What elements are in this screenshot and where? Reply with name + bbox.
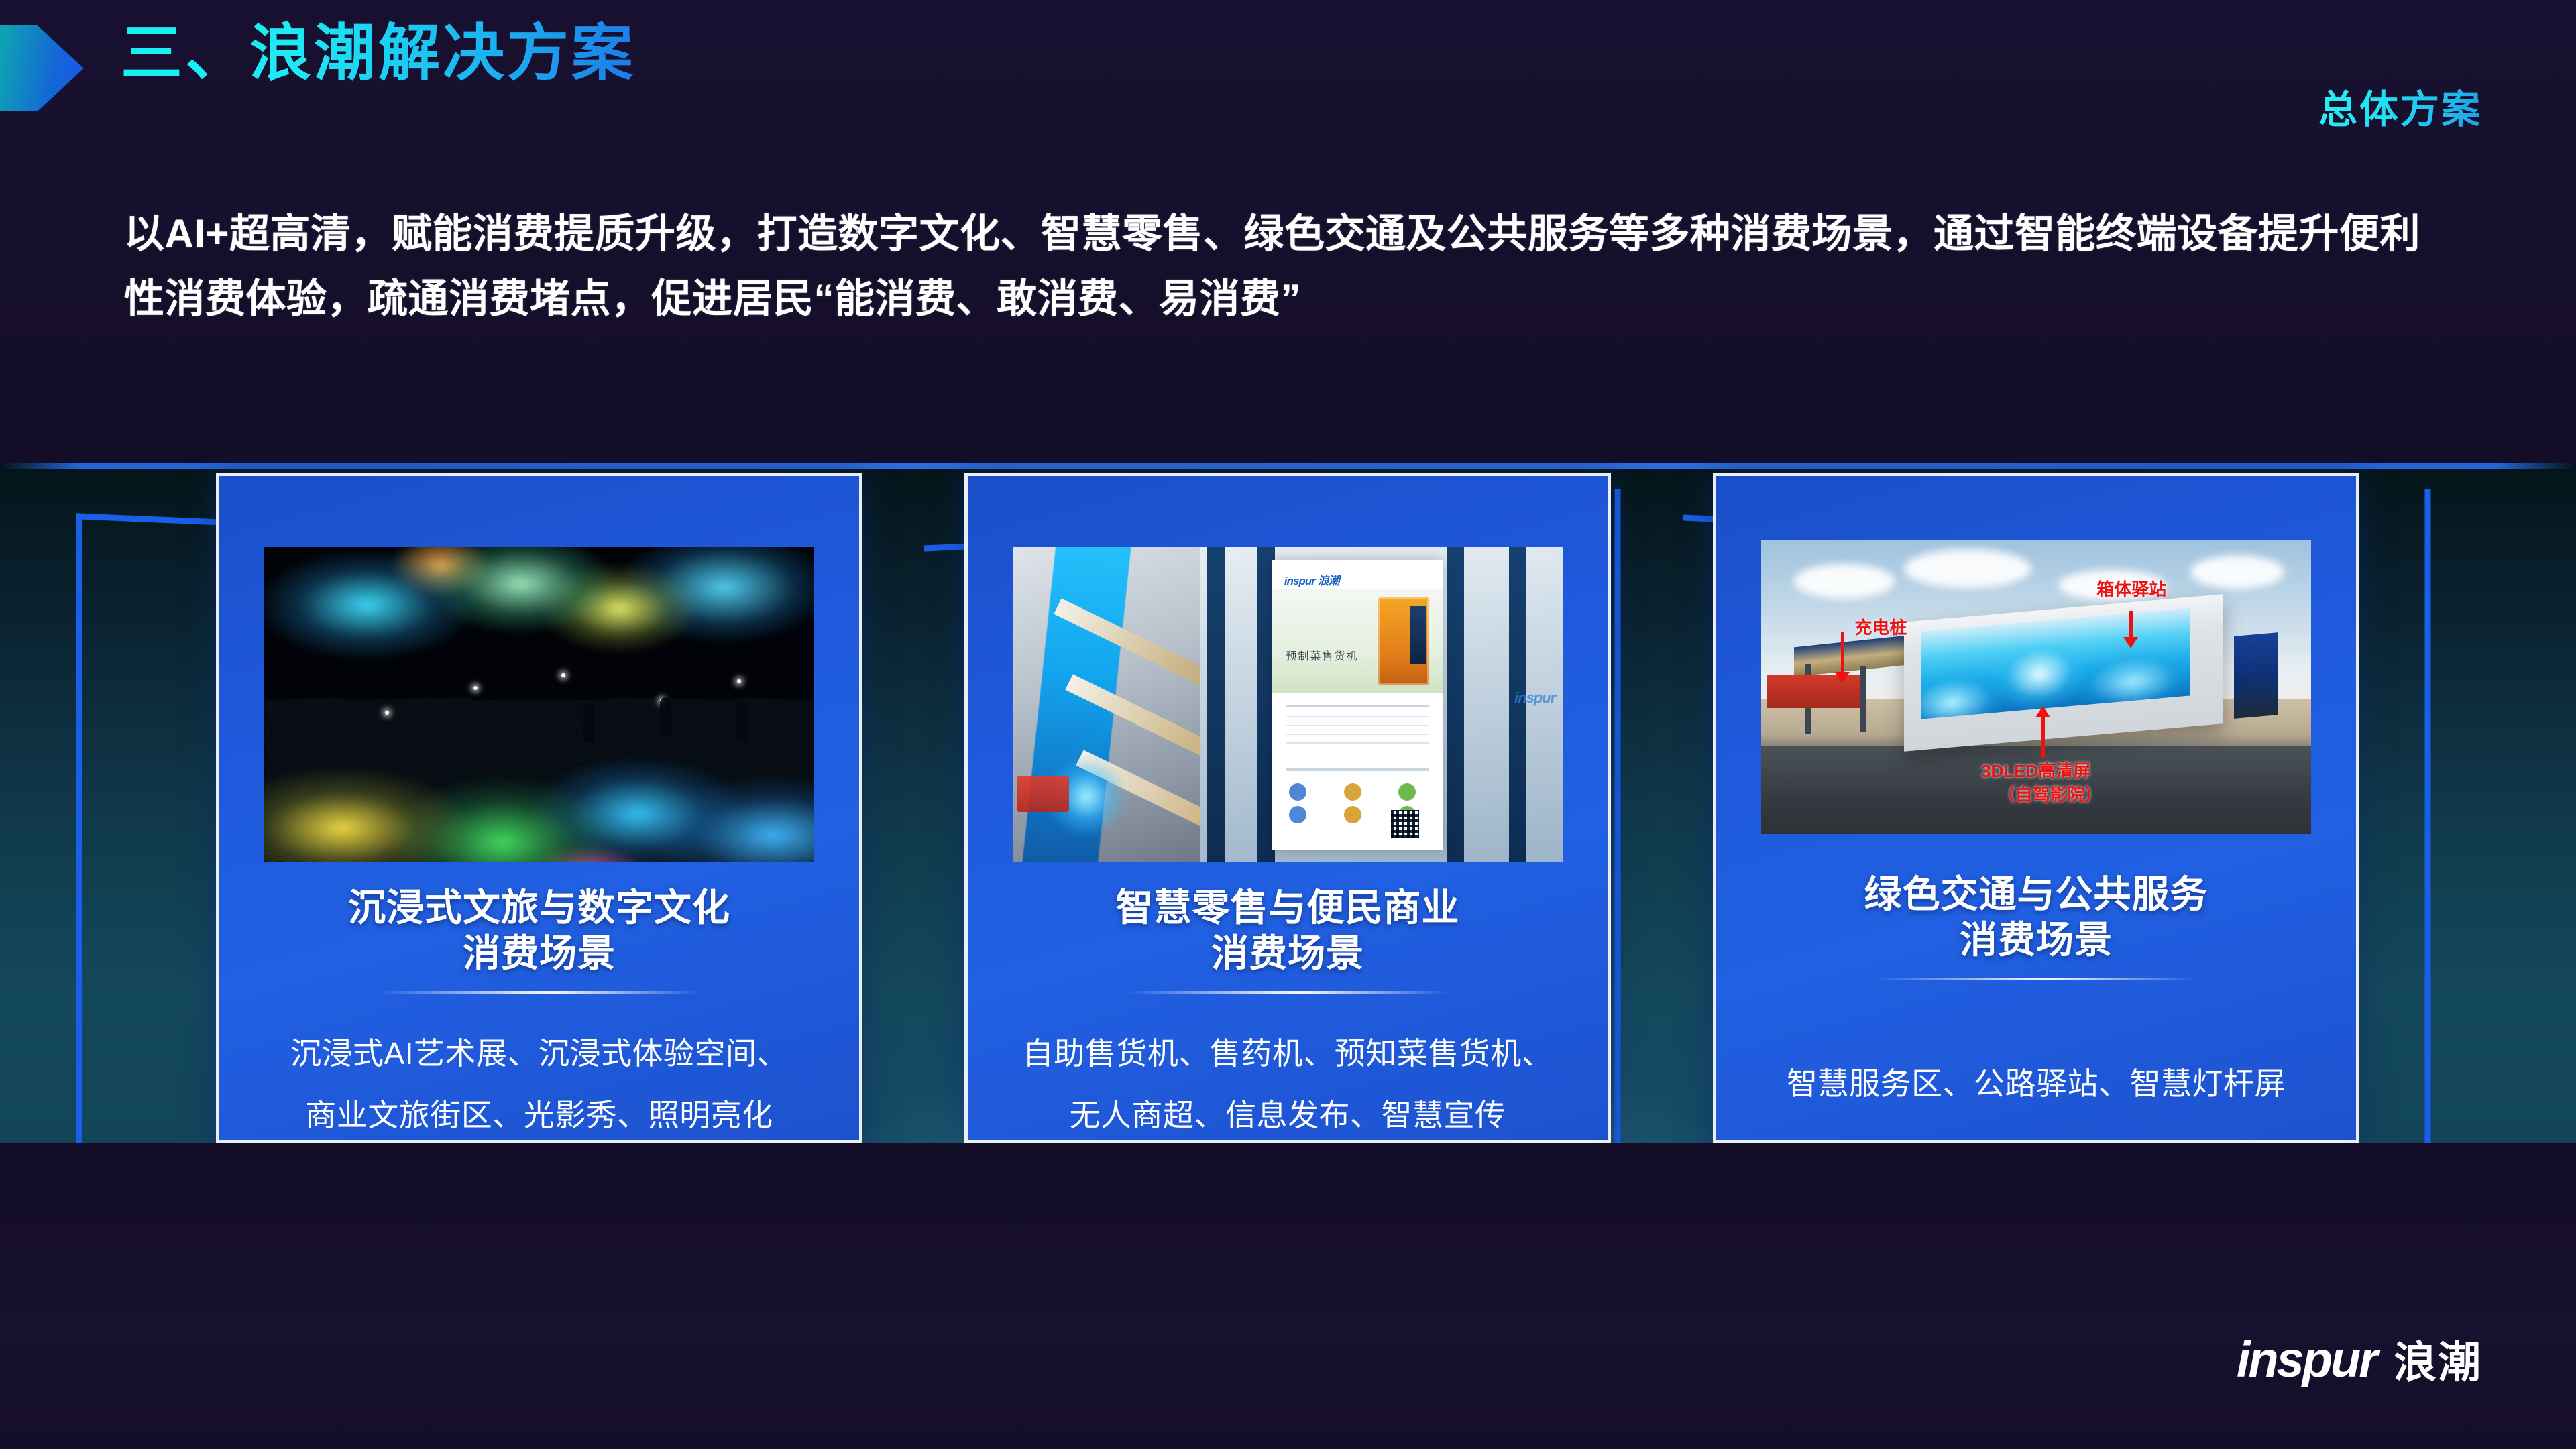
footer-area: inspur 浪潮 xyxy=(0,1143,2576,1449)
header-area: 三、浪潮解决方案 总体方案 以AI+超高清，赋能消费提质升级，打造数字文化、智慧… xyxy=(0,0,2576,463)
poster-title: 预制菜售货机 xyxy=(1286,647,1358,663)
card-title-line2: 消费场景 xyxy=(219,931,859,976)
annotation-charging-pile: 充电桩 xyxy=(1854,614,1907,639)
kiosk-poster: inspur 浪潮 预制菜售货机 xyxy=(1272,560,1443,850)
card-divider xyxy=(1875,978,2197,980)
card-photo-immersive-culture xyxy=(264,547,814,862)
card-body-smart-retail: 自助售货机、售药机、预知菜售货机、 无人商超、信息发布、智慧宣传 xyxy=(1003,1023,1573,1146)
annotation-arrow-charging-pile xyxy=(1841,632,1844,673)
card-body-green-transport: 智慧服务区、公路驿站、智慧灯杆屏 xyxy=(1751,1053,2321,1114)
card-title-line1: 智慧零售与便民商业 xyxy=(968,885,1608,931)
poster-brand: inspur 浪潮 xyxy=(1284,571,1339,588)
slide-root: 三、浪潮解决方案 总体方案 以AI+超高清，赋能消费提质升级，打造数字文化、智慧… xyxy=(0,0,2576,1449)
card-title-line1: 沉浸式文旅与数字文化 xyxy=(219,885,859,931)
lead-paragraph: 以AI+超高清，赋能消费提质升级，打造数字文化、智慧零售、绿色交通及公共服务等多… xyxy=(124,201,2451,331)
card-body-line1: 沉浸式AI艺术展、沉浸式体验空间、 xyxy=(254,1023,824,1084)
section-tag: 总体方案 xyxy=(2318,78,2482,134)
scenario-card-smart-retail[interactable]: inspur 浪潮 预制菜售货机 xyxy=(964,473,1611,1143)
annotation-arrow-box-station xyxy=(2129,611,2133,637)
card-title-line2: 消费场景 xyxy=(1716,917,2356,963)
card-body-line1: 智慧服务区、公路驿站、智慧灯杆屏 xyxy=(1751,1053,2321,1114)
brand-logo-word: inspur xyxy=(2237,1331,2376,1388)
card-title-line1: 绿色交通与公共服务 xyxy=(1716,872,2356,917)
poster-watermark: inspur xyxy=(1514,689,1555,707)
scenario-card-immersive-culture[interactable]: 沉浸式文旅与数字文化 消费场景 沉浸式AI艺术展、沉浸式体验空间、 商业文旅街区… xyxy=(216,473,862,1143)
brand-logo: inspur 浪潮 xyxy=(2237,1328,2482,1390)
annotation-box-station: 箱体驿站 xyxy=(2096,576,2166,601)
card-body-line2: 无人商超、信息发布、智慧宣传 xyxy=(1003,1084,1573,1146)
card-body-line2: 商业文旅街区、光影秀、照明亮化 xyxy=(254,1084,824,1146)
card-photo-smart-retail: inspur 浪潮 预制菜售货机 xyxy=(1013,547,1563,862)
card-title-line2: 消费场景 xyxy=(968,931,1608,976)
scenario-card-green-transport[interactable]: 充电桩 箱体驿站 3DLED高清屏 （自驾影院） 绿色交通与公共服务 消费场景 … xyxy=(1713,473,2359,1143)
card-photo-green-transport: 充电桩 箱体驿站 3DLED高清屏 （自驾影院） xyxy=(1761,540,2311,834)
card-body-line1: 自助售货机、售药机、预知菜售货机、 xyxy=(1003,1023,1573,1084)
brand-logo-cn: 浪潮 xyxy=(2394,1328,2482,1390)
annotation-arrow-3dled xyxy=(2041,717,2045,758)
chevron-arrow-icon xyxy=(0,25,84,111)
page-title: 三、浪潮解决方案 xyxy=(121,19,636,90)
card-title-smart-retail: 智慧零售与便民商业 消费场景 xyxy=(968,885,1608,977)
card-body-immersive-culture: 沉浸式AI艺术展、沉浸式体验空间、 商业文旅街区、光影秀、照明亮化 xyxy=(254,1023,824,1146)
card-divider xyxy=(378,991,700,994)
card-divider xyxy=(1127,991,1449,994)
annotation-3dled-screen: 3DLED高清屏 xyxy=(1981,758,2090,783)
card-title-green-transport: 绿色交通与公共服务 消费场景 xyxy=(1716,872,2356,964)
annotation-drive-in-cinema: （自驾影院） xyxy=(1998,781,2103,806)
card-title-immersive-culture: 沉浸式文旅与数字文化 消费场景 xyxy=(219,885,859,977)
